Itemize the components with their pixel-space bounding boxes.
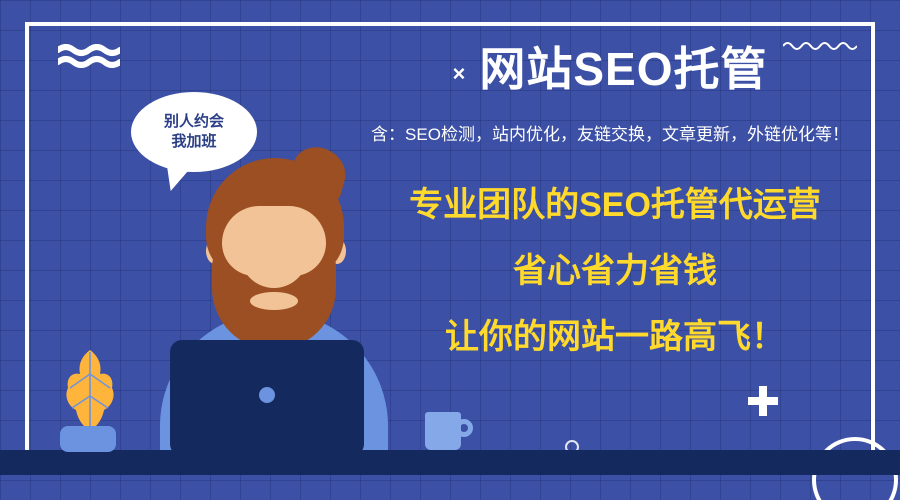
- plant-pot: [60, 426, 116, 452]
- seo-promo-banner: 别人约会 我加班 × 网站SEO托管 含：SEO检测，站内优化，友链交换，文章更…: [0, 0, 900, 500]
- page-title: 网站SEO托管: [479, 44, 767, 95]
- page-subtitle: 含：SEO检测，站内优化，友链交换，文章更新，外链优化等！: [330, 120, 890, 145]
- laptop-logo-dot: [259, 387, 275, 403]
- mouth: [250, 292, 298, 310]
- slogan-line-3: 让你的网站一路高飞！: [350, 320, 880, 354]
- title-marker-icon: ×: [452, 53, 465, 85]
- slogan-line-2: 省心省力省钱: [350, 254, 880, 288]
- page-title-row: × 网站SEO托管: [330, 44, 890, 95]
- speech-bubble-line-2: 我加班: [171, 132, 216, 152]
- speech-bubble-line-1: 别人约会: [164, 112, 224, 132]
- slogan-line-1: 专业团队的SEO托管代运营: [350, 188, 880, 222]
- desk-surface: [0, 450, 900, 475]
- potted-plant-icon: [62, 348, 118, 432]
- coffee-mug-icon: [425, 412, 461, 450]
- speech-bubble: 别人约会 我加班: [131, 92, 257, 172]
- slogan-list: 专业团队的SEO托管代运营 省心省力省钱 让你的网站一路高飞！: [350, 188, 880, 354]
